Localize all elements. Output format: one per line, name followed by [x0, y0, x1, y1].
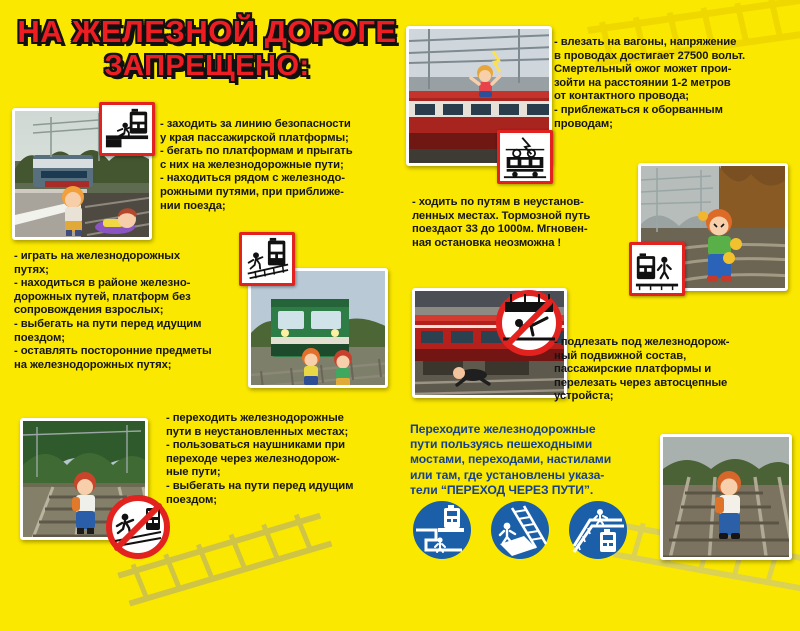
- sign-electric-shock-wagon: [497, 130, 553, 184]
- poster-root: НА ЖЕЛЕЗНОЙ ДОРОГЕ ЗАПРЕЩЕНО:: [0, 0, 800, 567]
- title-line-2: ЗАПРЕЩЕНО:: [12, 49, 402, 84]
- sign-running-on-platform: [99, 102, 155, 156]
- sign-use-overpass: [568, 500, 628, 560]
- poster-title: НА ЖЕЛЕЗНОЙ ДОРОГЕ ЗАПРЕЩЕНО:: [12, 14, 402, 84]
- text-walking-tracks-rules: - ходить по путям в неустанов- ленных ме…: [412, 196, 652, 250]
- sign-use-level-crossing: [490, 500, 550, 560]
- text-wires-rules: - влезать на вагоны, напряжение в провод…: [554, 36, 799, 131]
- sign-crossing-in-front-of-train: [105, 494, 171, 560]
- sign-crawling-under-train: [495, 289, 563, 357]
- text-advice-blue: Переходите железнодорожные пути пользуяс…: [410, 422, 660, 498]
- sign-use-underpass: [412, 500, 472, 560]
- sign-walking-along-tracks: [629, 242, 685, 296]
- text-crossing-rules: - переходить железнодорожные пути в неус…: [166, 412, 406, 507]
- photo-locomotive-kids: [248, 268, 388, 388]
- sign-running-across-tracks: [239, 232, 295, 286]
- title-line-1: НА ЖЕЛЕЗНОЙ ДОРОГЕ: [12, 14, 402, 49]
- text-platform-rules: - заходить за линию безопасности у края …: [160, 118, 410, 213]
- text-under-train-rules: - подлезать под железнодорож- ный подвиж…: [554, 336, 798, 404]
- photo-boy-bridge-tracks: [660, 434, 792, 560]
- text-playing-rules: - играть на железнодорожных путях; - нах…: [14, 250, 249, 372]
